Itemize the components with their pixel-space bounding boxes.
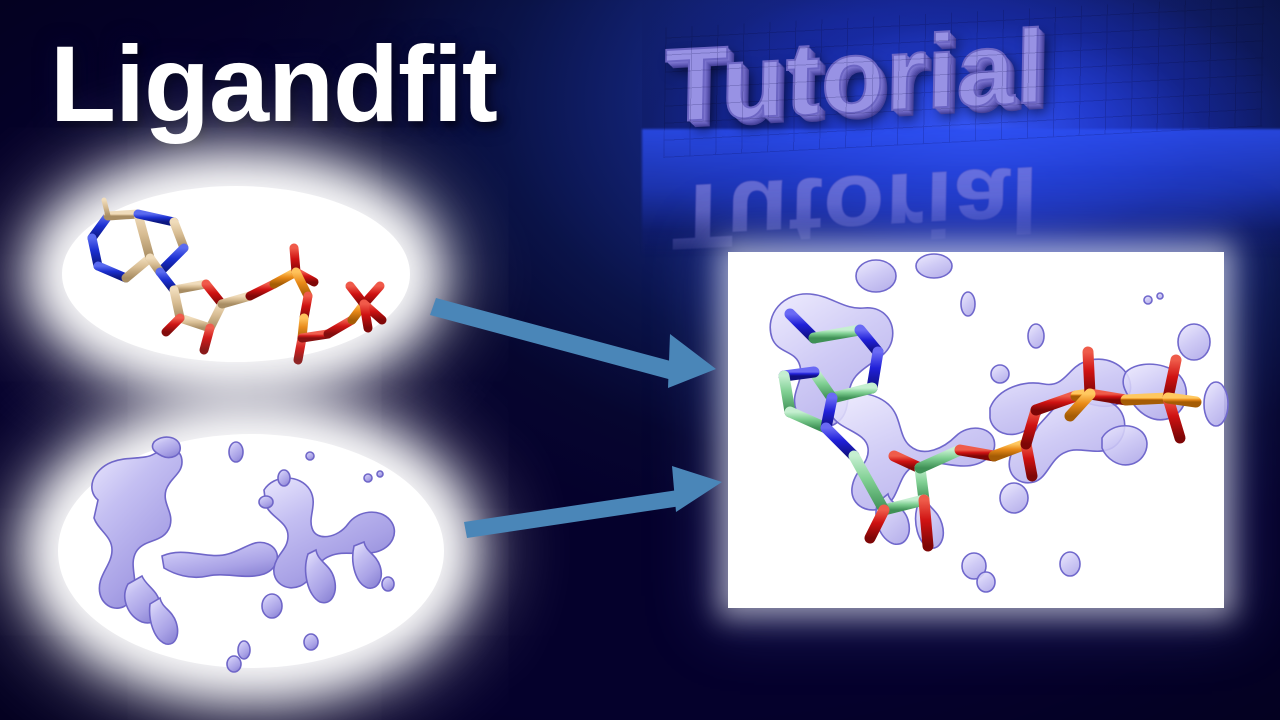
arrow-ligand-to-result — [420, 280, 730, 390]
tutorial-3d-block: Tutorial Tutorial — [642, 0, 1280, 256]
slide-root: Tutorial Tutorial Ligandfit — [0, 0, 1280, 720]
page-title: Ligandfit — [50, 22, 497, 146]
electron-density-blobs — [58, 434, 444, 668]
bond-group — [92, 200, 382, 360]
fitted-ligand-scene — [728, 252, 1224, 608]
result-panel — [728, 252, 1224, 608]
ligand-model-panel — [62, 186, 410, 362]
density-envelope — [770, 254, 1228, 592]
density-map-panel — [58, 434, 444, 668]
arrow-density-to-result — [440, 450, 730, 560]
density-blob-group — [92, 437, 395, 672]
atp-stick-model — [62, 186, 410, 362]
